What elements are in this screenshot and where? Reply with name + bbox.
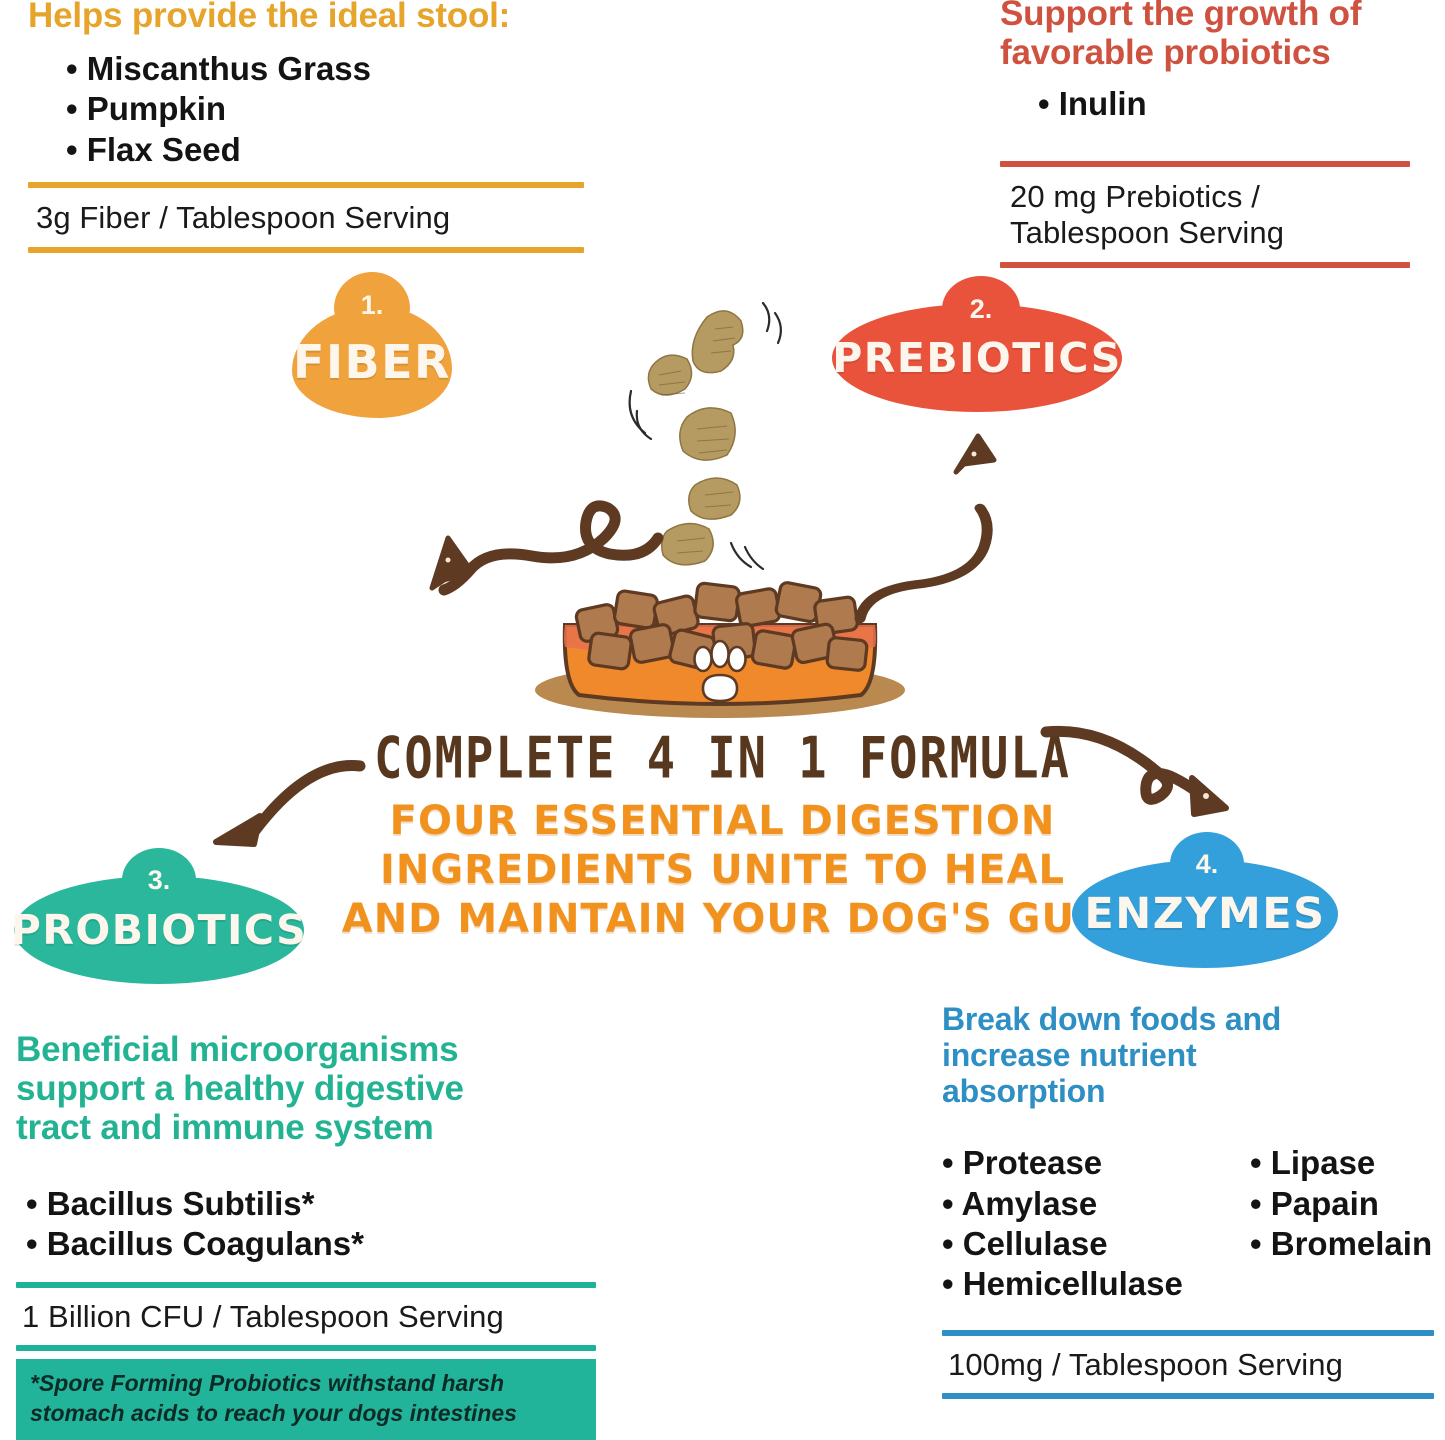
list-item: Papain — [1250, 1184, 1432, 1224]
divider — [942, 1393, 1434, 1399]
probiotics-ingredient-list: Bacillus Subtilis* Bacillus Coagulans* — [26, 1184, 596, 1265]
fiber-badge-number: 1. — [334, 272, 410, 338]
fiber-badge-label: FIBER — [293, 335, 451, 389]
enzymes-info-panel: Break down foods and increase nutrient a… — [942, 1002, 1434, 1399]
divider — [1000, 262, 1410, 268]
badge-probiotics[interactable]: PROBIOTICS 3. — [14, 848, 304, 984]
list-item: Amylase — [942, 1184, 1250, 1224]
divider — [28, 247, 584, 253]
enzymes-badge-number: 4. — [1170, 832, 1244, 896]
probiotics-footnote: *Spore Forming Probiotics withstand hars… — [16, 1359, 596, 1440]
list-item: Flax Seed — [66, 130, 584, 170]
arrow-bowl-to-fiber-icon — [348, 418, 684, 654]
list-item: Lipase — [1250, 1143, 1432, 1183]
badge-fiber[interactable]: FIBER 1. — [284, 272, 464, 422]
probiotics-serving-block: 1 Billion CFU / Tablespoon Serving — [16, 1282, 596, 1351]
badge-prebiotics[interactable]: PREBIOTICS 2. — [832, 276, 1122, 412]
page-title: COMPLETE 4 IN 1 FORMULA — [0, 730, 1445, 787]
probiotics-badge-label: PROBIOTICS — [11, 906, 307, 954]
enzymes-ingredient-columns: Protease Amylase Cellulase Hemicellulase… — [942, 1143, 1434, 1304]
probiotics-serving-text: 1 Billion CFU / Tablespoon Serving — [16, 1288, 596, 1345]
fiber-heading: Helps provide the ideal stool: — [28, 0, 584, 35]
probiotics-heading: Beneficial microorganisms support a heal… — [16, 1030, 596, 1148]
divider — [16, 1345, 596, 1351]
prebiotics-serving-text: 20 mg Prebiotics / Tablespoon Serving — [1000, 167, 1410, 262]
arrow-bowl-to-prebiotics-icon — [846, 420, 1076, 674]
badge-enzymes[interactable]: ENZYMES 4. — [1072, 832, 1338, 968]
fiber-ingredient-list: Miscanthus Grass Pumpkin Flax Seed — [66, 49, 584, 170]
list-item: Pumpkin — [66, 89, 584, 129]
list-item: Hemicellulase — [942, 1264, 1250, 1304]
prebiotics-ingredient-list: Inulin — [1038, 84, 1410, 124]
list-item: Cellulase — [942, 1224, 1250, 1264]
enzymes-ingredient-list-left: Protease Amylase Cellulase Hemicellulase — [942, 1143, 1250, 1304]
prebiotics-badge-number: 2. — [942, 276, 1020, 342]
probiotics-info-panel: Beneficial microorganisms support a heal… — [16, 1030, 596, 1440]
fiber-serving-block: 3g Fiber / Tablespoon Serving — [28, 182, 584, 253]
prebiotics-serving-block: 20 mg Prebiotics / Tablespoon Serving — [1000, 161, 1410, 268]
fiber-serving-text: 3g Fiber / Tablespoon Serving — [28, 188, 584, 247]
probiotics-badge-number: 3. — [122, 848, 196, 912]
enzymes-serving-text: 100mg / Tablespoon Serving — [942, 1336, 1434, 1393]
list-item: Inulin — [1038, 84, 1410, 124]
list-item: Bacillus Coagulans* — [26, 1224, 596, 1264]
list-item: Bacillus Subtilis* — [26, 1184, 596, 1224]
prebiotics-info-panel: Support the growth of favorable probioti… — [1000, 0, 1410, 268]
list-item: Protease — [942, 1143, 1250, 1183]
enzymes-ingredient-list-right: Lipase Papain Bromelain — [1250, 1143, 1432, 1304]
list-item: Miscanthus Grass — [66, 49, 584, 89]
enzymes-badge-label: ENZYMES — [1084, 889, 1325, 939]
prebiotics-heading: Support the growth of favorable probioti… — [1000, 0, 1410, 72]
enzymes-serving-block: 100mg / Tablespoon Serving — [942, 1330, 1434, 1399]
fiber-info-panel: Helps provide the ideal stool: Miscanthu… — [28, 0, 584, 253]
enzymes-heading: Break down foods and increase nutrient a… — [942, 1002, 1434, 1109]
list-item: Bromelain — [1250, 1224, 1432, 1264]
